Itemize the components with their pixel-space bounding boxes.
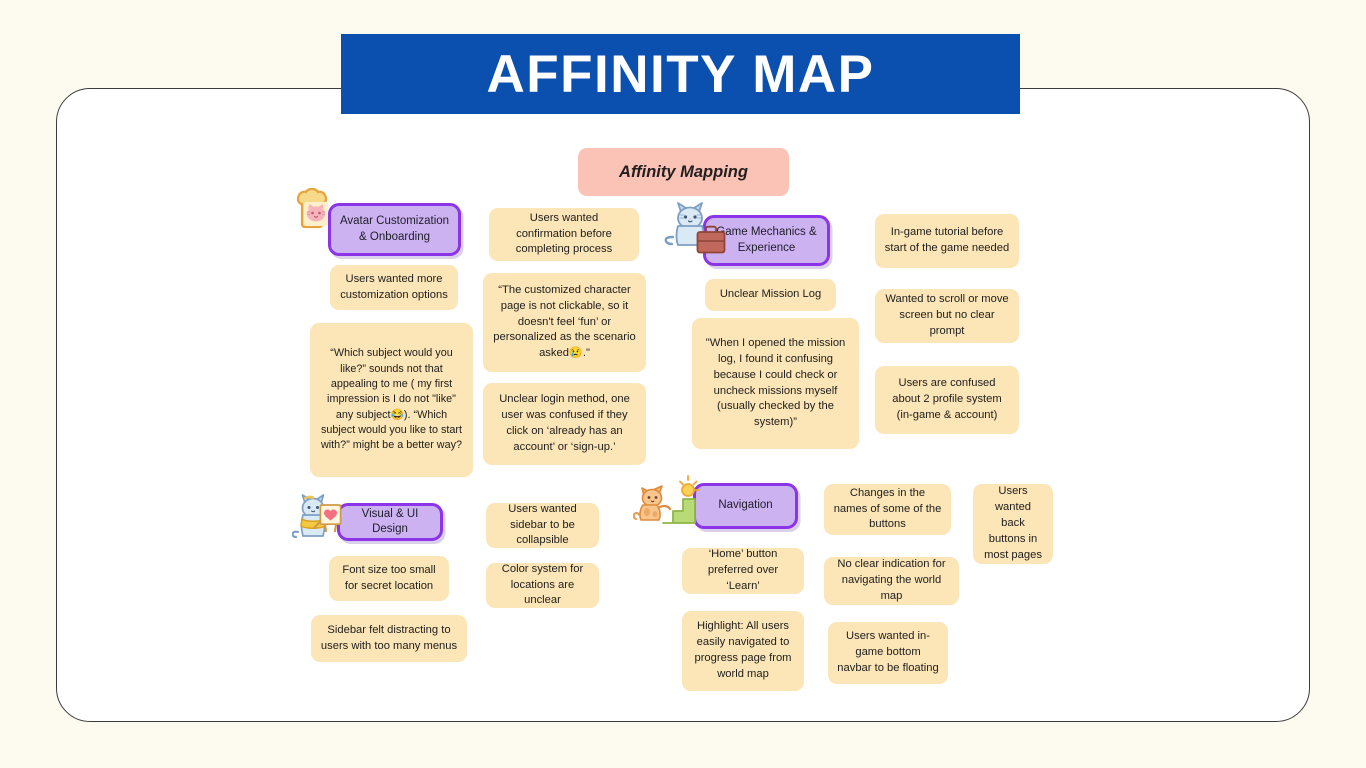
note-text: "When I opened the mission log, I found … [701,336,850,431]
note-visual-sidebar-collapsible[interactable]: Users wanted sidebar to be collapsible [486,503,599,548]
board-subtitle: Affinity Mapping [578,148,789,196]
note-nav-highlight-progress-page[interactable]: Highlight: All users easily navigated to… [682,611,804,691]
note-avatar-customized-character[interactable]: “The customized character page is not cl… [483,273,646,372]
note-nav-button-name-changes[interactable]: Changes in the names of some of the butt… [824,484,951,535]
note-nav-home-button[interactable]: ‘Home’ button preferred over ‘Learn’ [682,548,804,594]
note-text: Font size too small for secret location [338,563,440,595]
note-text: Users wanted confirmation before complet… [498,211,630,259]
note-text: “The customized character page is not cl… [492,283,637,363]
note-avatar-which-subject[interactable]: “Which subject would you like?” sounds n… [310,323,473,477]
note-text: In-game tutorial before start of the gam… [884,225,1010,257]
note-nav-floating-navbar[interactable]: Users wanted in-game bottom navbar to be… [828,622,948,684]
note-text: Unclear Mission Log [714,287,827,303]
note-nav-world-map-indication[interactable]: No clear indication for navigating the w… [824,557,959,605]
note-text: Highlight: All users easily navigated to… [691,619,795,683]
note-visual-color-system[interactable]: Color system for locations are unclear [486,563,599,608]
note-avatar-login-method[interactable]: Unclear login method, one user was confu… [483,383,646,465]
note-text: No clear indication for navigating the w… [833,557,950,605]
note-text: Color system for locations are unclear [495,562,590,610]
note-avatar-confirmation[interactable]: Users wanted confirmation before complet… [489,208,639,261]
note-text: Users wanted in-game bottom navbar to be… [837,629,939,677]
category-label: Avatar Customization & Onboarding [339,214,450,244]
note-avatar-more-customization[interactable]: Users wanted more customization options [330,265,458,310]
note-visual-sidebar-distracting[interactable]: Sidebar felt distracting to users with t… [311,615,467,662]
note-text: Users wanted sidebar to be collapsible [495,502,590,550]
category-label: Navigation [718,498,772,513]
note-game-scroll-prompt[interactable]: Wanted to scroll or move screen but no c… [875,289,1019,343]
cat-briefcase-sticker [664,198,730,260]
note-text: “Which subject would you like?” sounds n… [319,346,464,453]
category-avatar-customization[interactable]: Avatar Customization & Onboarding [328,203,461,256]
note-text: Users wanted back buttons in most pages [982,484,1044,564]
note-text: Wanted to scroll or move screen but no c… [884,292,1010,340]
category-label: Visual & UI Design [348,507,432,537]
cat-toast-sticker [288,183,344,239]
note-nav-back-buttons[interactable]: Users wanted back buttons in most pages [973,484,1053,564]
note-text: Users are confused about 2 profile syste… [884,376,1010,424]
note-text: Users wanted more customization options [339,272,449,304]
note-game-mission-log-quote[interactable]: "When I opened the mission log, I found … [692,318,859,449]
cat-stairs-sticker [633,473,703,529]
note-text: Sidebar felt distracting to users with t… [320,623,458,655]
note-game-unclear-mission-log[interactable]: Unclear Mission Log [705,279,836,311]
note-text: ‘Home’ button preferred over ‘Learn’ [691,547,795,595]
note-game-tutorial-needed[interactable]: In-game tutorial before start of the gam… [875,214,1019,268]
category-navigation[interactable]: Navigation [693,483,798,529]
note-text: Unclear login method, one user was confu… [492,392,637,456]
cat-painter-sticker [292,489,354,549]
board-subtitle-label: Affinity Mapping [619,163,748,182]
affinity-board: Affinity Mapping Avatar Customization & … [0,0,1366,768]
note-visual-font-size[interactable]: Font size too small for secret location [329,556,449,601]
note-game-two-profile-system[interactable]: Users are confused about 2 profile syste… [875,366,1019,434]
note-text: Changes in the names of some of the butt… [833,486,942,534]
